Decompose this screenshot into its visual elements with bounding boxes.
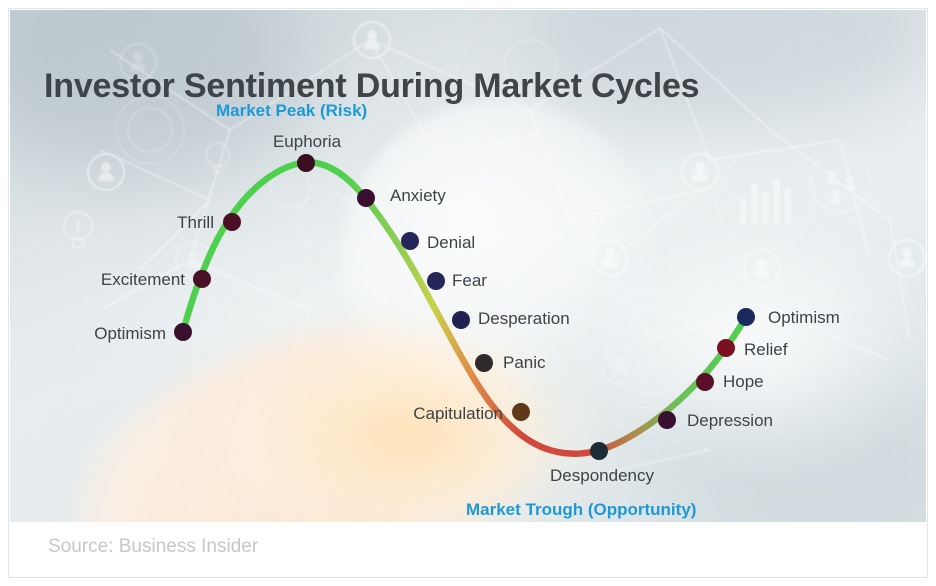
market-peak-annotation: Market Peak (Risk): [216, 101, 367, 121]
sentiment-label-denial-5: Denial: [427, 233, 475, 253]
data-point-dot: [512, 403, 530, 421]
source-attribution: Source: Business Insider: [48, 536, 258, 558]
sentiment-label-optimism-0: Optimism: [94, 324, 166, 344]
data-point-dot: [696, 373, 714, 391]
sentiment-label-capitulation-9: Capitulation: [413, 404, 503, 424]
data-point-dot: [452, 311, 470, 329]
data-point-dot: [590, 442, 608, 460]
sentiment-label-excitement-1: Excitement: [101, 270, 185, 290]
footer-bar: Source: Business Insider: [10, 522, 926, 576]
sentiment-label-hope-12: Hope: [723, 372, 764, 392]
sentiment-label-euphoria-3: Euphoria: [273, 132, 341, 152]
market-trough-annotation: Market Trough (Opportunity): [466, 500, 696, 520]
data-point-dot: [717, 339, 735, 357]
page-title: Investor Sentiment During Market Cycles: [44, 67, 699, 106]
data-point-dot: [658, 411, 676, 429]
data-point-dot: [223, 213, 241, 231]
data-point-dot: [174, 323, 192, 341]
sentiment-label-desperation-7: Desperation: [478, 309, 570, 329]
data-point-dot: [401, 232, 419, 250]
data-point-dot: [427, 272, 445, 290]
data-point-dot: [737, 308, 755, 326]
data-point-dot: [357, 189, 375, 207]
data-point-dot: [475, 354, 493, 372]
sentiment-label-relief-13: Relief: [744, 340, 787, 360]
sentiment-label-anxiety-4: Anxiety: [390, 186, 446, 206]
sentiment-label-depression-11: Depression: [687, 411, 773, 431]
sentiment-label-panic-8: Panic: [503, 353, 546, 373]
sentiment-label-optimism-14: Optimism: [768, 308, 840, 328]
sentiment-label-despondency-10: Despondency: [550, 466, 654, 486]
data-point-dot: [193, 270, 211, 288]
sentiment-label-fear-6: Fear: [452, 271, 487, 291]
data-point-dot: [297, 154, 315, 172]
infographic-frame: Investor Sentiment During Market Cycles …: [0, 0, 936, 586]
sentiment-label-thrill-2: Thrill: [177, 213, 214, 233]
